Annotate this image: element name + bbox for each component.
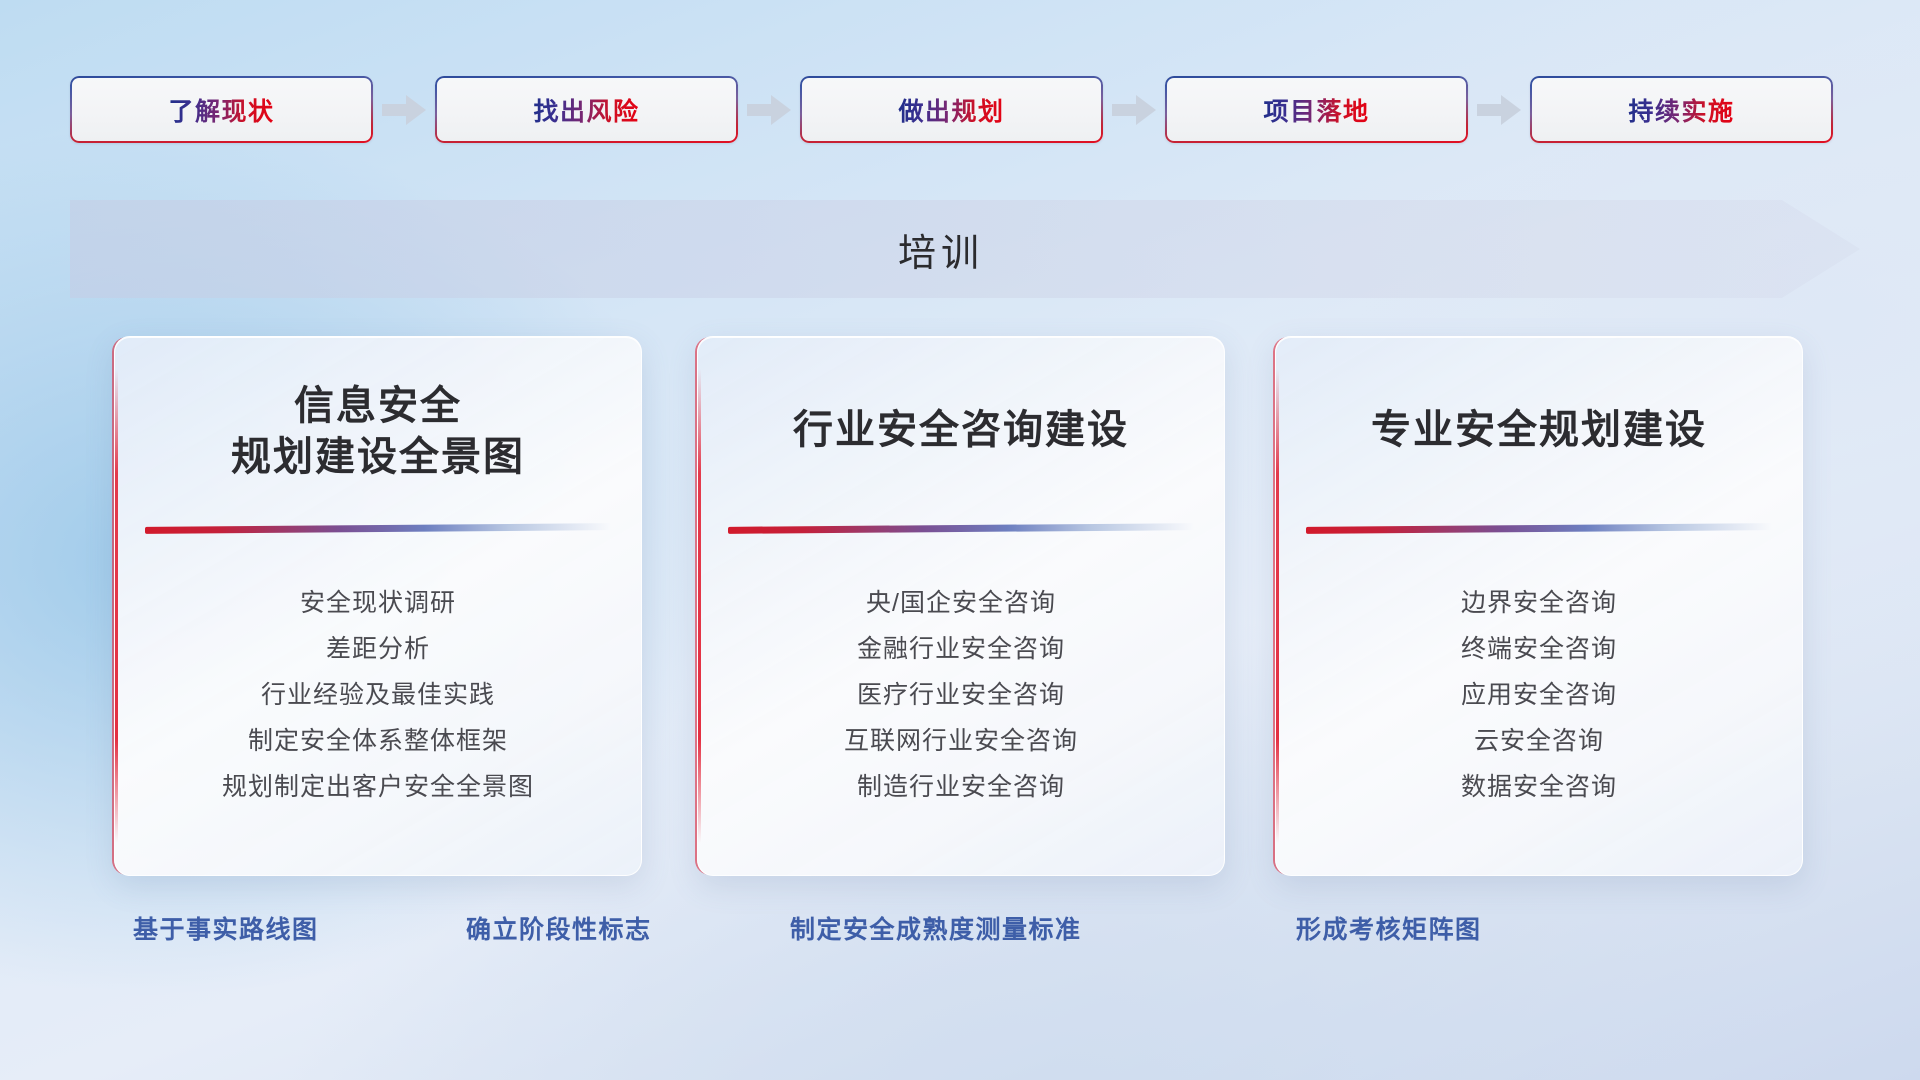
arrow-right-icon (373, 76, 435, 143)
card-list: 安全现状调研 差距分析 行业经验及最佳实践 制定安全体系整体框架 规划制定出客户… (139, 581, 617, 811)
flow-step-3[interactable]: 项目落地 (1165, 76, 1468, 143)
arrow-right-icon (1103, 76, 1165, 143)
list-item: 规划制定出客户安全全景图 (139, 765, 617, 811)
process-flow-row: 了解现状 找出风险 做出规划 项目落地 持续实施 (70, 76, 1855, 143)
flow-step-2[interactable]: 做出规划 (800, 76, 1103, 143)
arrow-right-icon (1468, 76, 1530, 143)
training-banner: 培训 (70, 200, 1860, 298)
list-item: 云安全咨询 (1300, 719, 1778, 765)
list-item: 金融行业安全咨询 (722, 627, 1200, 673)
arrow-right-icon (738, 76, 800, 143)
list-item: 制造行业安全咨询 (722, 765, 1200, 811)
bottom-label: 制定安全成熟度测量标准 (790, 910, 1082, 946)
list-item: 医疗行业安全咨询 (722, 673, 1200, 719)
bottom-label: 基于事实路线图 (133, 910, 319, 946)
list-item: 制定安全体系整体框架 (139, 719, 617, 765)
bottom-labels-row: 基于事实路线图 确立阶段性标志 制定安全成熟度测量标准 形成考核矩阵图 (0, 910, 1920, 966)
list-item: 互联网行业安全咨询 (722, 719, 1200, 765)
card-list: 央/国企安全咨询 金融行业安全咨询 医疗行业安全咨询 互联网行业安全咨询 制造行… (722, 581, 1200, 811)
list-item: 数据安全咨询 (1300, 765, 1778, 811)
card-divider (1306, 523, 1772, 534)
flow-step-label: 了解现状 (168, 92, 274, 128)
flow-step-label: 项目落地 (1263, 92, 1369, 128)
card-title-line: 信息安全 (141, 381, 615, 432)
list-item: 安全现状调研 (139, 581, 617, 627)
list-item: 应用安全咨询 (1300, 673, 1778, 719)
banner-title: 培训 (70, 200, 1860, 298)
card-title-line: 行业安全咨询建设 (724, 405, 1198, 456)
list-item: 边界安全咨询 (1300, 581, 1778, 627)
flow-step-label: 做出规划 (898, 92, 1004, 128)
flow-step-0[interactable]: 了解现状 (70, 76, 373, 143)
card-title: 行业安全咨询建设 (724, 405, 1198, 456)
flow-step-label: 持续实施 (1628, 92, 1734, 128)
flow-step-1[interactable]: 找出风险 (435, 76, 738, 143)
card-title-line: 专业安全规划建设 (1302, 405, 1776, 456)
bottom-label: 确立阶段性标志 (466, 910, 652, 946)
list-item: 差距分析 (139, 627, 617, 673)
list-item: 央/国企安全咨询 (722, 581, 1200, 627)
card-title: 专业安全规划建设 (1302, 405, 1776, 456)
list-item: 终端安全咨询 (1300, 627, 1778, 673)
bottom-label: 形成考核矩阵图 (1296, 910, 1482, 946)
list-item: 行业经验及最佳实践 (139, 673, 617, 719)
cards-container: 信息安全 规划建设全景图 安全现状调研 差距分析 行业经验及最佳实践 制定安全体… (0, 336, 1920, 876)
card-divider (145, 523, 611, 534)
flow-step-4[interactable]: 持续实施 (1530, 76, 1833, 143)
card-professional-security-planning[interactable]: 专业安全规划建设 边界安全咨询 终端安全咨询 应用安全咨询 云安全咨询 数据安全… (1275, 336, 1803, 876)
card-title: 信息安全 规划建设全景图 (141, 381, 615, 483)
card-industry-security-consulting[interactable]: 行业安全咨询建设 央/国企安全咨询 金融行业安全咨询 医疗行业安全咨询 互联网行… (697, 336, 1225, 876)
card-title-line: 规划建设全景图 (141, 432, 615, 483)
flow-step-label: 找出风险 (533, 92, 639, 128)
card-information-security-blueprint[interactable]: 信息安全 规划建设全景图 安全现状调研 差距分析 行业经验及最佳实践 制定安全体… (114, 336, 642, 876)
card-divider (728, 523, 1194, 534)
card-list: 边界安全咨询 终端安全咨询 应用安全咨询 云安全咨询 数据安全咨询 (1300, 581, 1778, 811)
